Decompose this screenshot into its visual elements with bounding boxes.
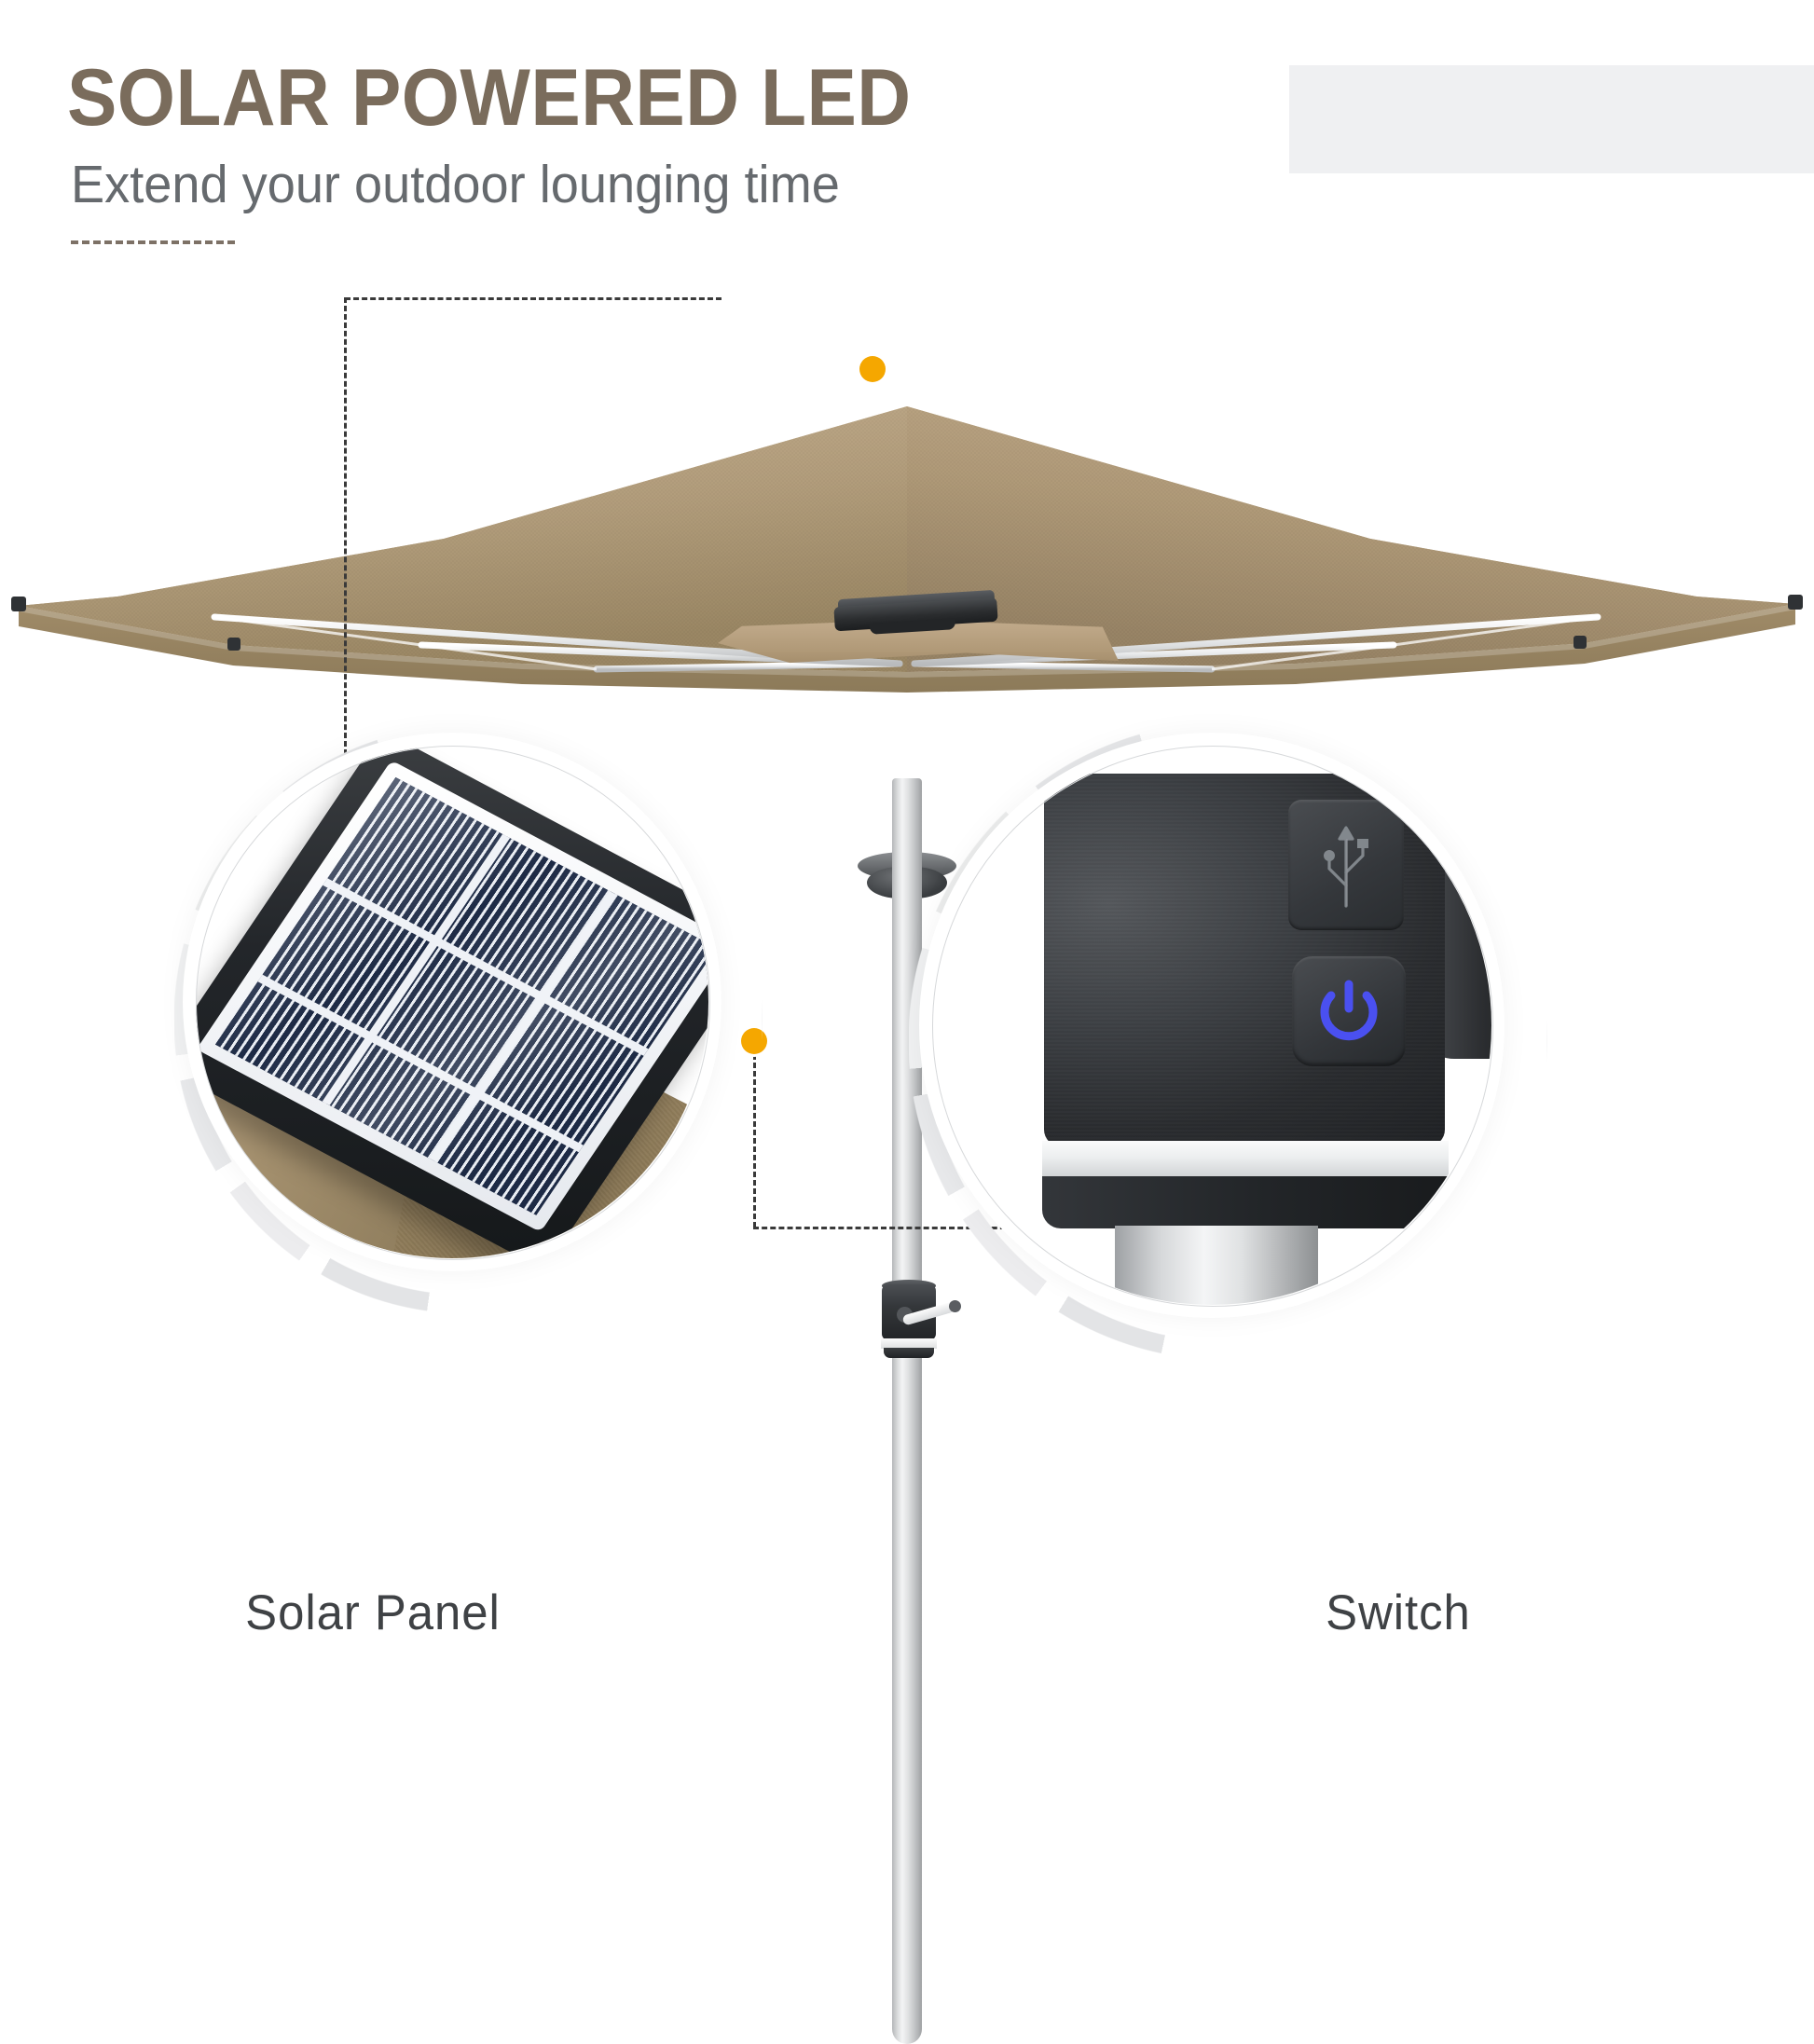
- callout-leader-solar-horizontal: [345, 297, 721, 300]
- pole-shaft-segment: [1115, 1226, 1318, 1305]
- umbrella-pole: [892, 778, 922, 2044]
- detail-circle-switch: [932, 746, 1491, 1305]
- solar-led-module: [834, 595, 997, 632]
- usb-port-icon: [1316, 818, 1376, 912]
- logo-placeholder: [1289, 65, 1814, 173]
- page-title: SOLAR POWERED LED: [67, 58, 912, 138]
- callout-leader-switch-vertical: [753, 1046, 756, 1228]
- switch-chrome-collar: [1042, 1141, 1449, 1178]
- title-divider: [71, 240, 235, 244]
- callout-marker-dot-switch: [741, 1028, 767, 1054]
- callout-marker-dot-solar: [859, 356, 886, 382]
- callout-leader-solar-vertical: [344, 297, 347, 763]
- detail-circle-solar-panel: [196, 746, 708, 1258]
- power-button-icon: [1312, 977, 1385, 1049]
- callout-label-solar-panel: Solar Panel: [140, 1584, 605, 1641]
- page-subtitle: Extend your outdoor lounging time: [71, 158, 840, 212]
- callout-label-switch: Switch: [1165, 1584, 1630, 1641]
- infographic-canvas: SOLAR POWERED LED Extend your outdoor lo…: [0, 0, 1814, 1814]
- switch-lower-housing: [1042, 1176, 1449, 1228]
- tilt-crank-switch[interactable]: [882, 1284, 936, 1355]
